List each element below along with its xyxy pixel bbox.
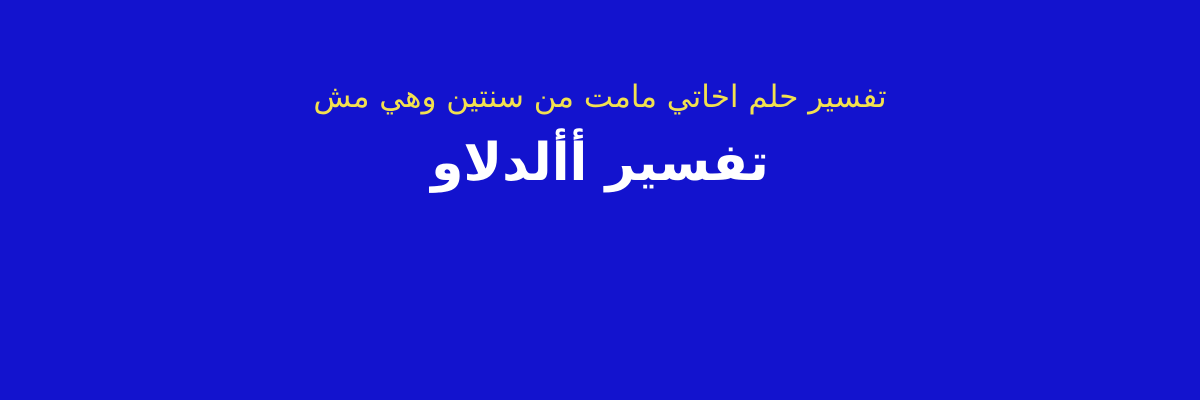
arabic-title-banner: تفسير حلم اخاتي مامت من سنتين وهي مش تفس…	[0, 0, 1200, 400]
banner-background	[0, 0, 1200, 400]
